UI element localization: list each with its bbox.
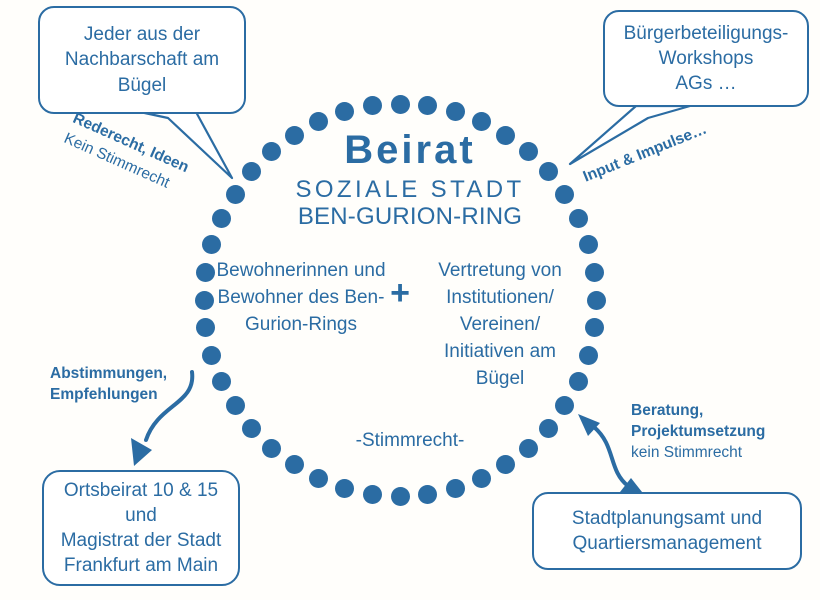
box-stadtplanung[interactable]: Stadtplanungsamt und Quartiersmanagement: [532, 492, 802, 570]
caption-beratung: Beratung, Projektumsetzung kein Stimmrec…: [631, 401, 765, 464]
group-institutions-line-4: Vereinen/: [460, 314, 540, 335]
subtitle-ben-gurion-ring: BEN-GURION-RING: [0, 203, 820, 231]
box-ortsbeirat[interactable]: Ortsbeirat 10 & 15 und Magistrat der Sta…: [42, 470, 240, 586]
bubble-workshops-line-1: Bürgerbeteiligungs-: [624, 21, 789, 46]
diagram-canvas: Jeder aus der Nachbarschaft am Bügel Bür…: [0, 0, 820, 600]
bubble-neighbourhood-line-1: Jeder aus der: [84, 22, 200, 47]
caption-abstimmungen-line-1: Abstimmungen,: [50, 364, 167, 385]
bubble-neighbourhood[interactable]: Jeder aus der Nachbarschaft am Bügel: [38, 6, 246, 114]
group-institutions-line-1: Vertretung: [438, 260, 526, 281]
group-institutions-line-3: Institutionen/: [446, 287, 554, 308]
group-residents-line-3: des: [308, 287, 339, 308]
group-residents: Bewohnerinnen und Bewohner des Ben-Gurio…: [212, 258, 390, 339]
box-stadtplanung-line-2: Quartiersmanagement: [572, 531, 761, 556]
group-institutions-line-2: von: [531, 260, 562, 281]
box-stadtplanung-line-1: Stadtplanungsamt und: [572, 506, 762, 531]
group-institutions: Vertretung von Institutionen/ Vereinen/ …: [420, 258, 580, 393]
caption-beratung-line-2: Projektumsetzung: [631, 422, 765, 443]
bubble-workshops-line-2: Workshops: [659, 46, 754, 71]
caption-beratung-line-1: Beratung,: [631, 401, 765, 422]
group-institutions-line-5: Initiativen: [444, 341, 524, 362]
bubble-neighbourhood-line-2: Nachbarschaft am: [65, 47, 219, 72]
box-ortsbeirat-line-1: Ortsbeirat 10 & 15: [64, 478, 218, 503]
subtitle-soziale-stadt: SOZIALE STADT: [0, 176, 820, 204]
bubble-workshops[interactable]: Bürgerbeteiligungs- Workshops AGs …: [603, 10, 809, 107]
caption-beratung-line-3: kein Stimmrecht: [631, 443, 765, 464]
caption-abstimmungen-line-2: Empfehlungen: [50, 385, 167, 406]
plus-icon: +: [384, 276, 416, 310]
box-ortsbeirat-line-2: und: [125, 503, 157, 528]
bubble-workshops-line-3: AGs …: [675, 71, 736, 96]
caption-abstimmungen: Abstimmungen, Empfehlungen: [50, 364, 167, 406]
bubble-neighbourhood-line-3: Bügel: [118, 73, 167, 98]
group-residents-line-1: Bewohnerinnen: [216, 260, 348, 281]
box-ortsbeirat-line-4: Frankfurt am Main: [64, 553, 218, 578]
box-ortsbeirat-line-3: Magistrat der Stadt: [61, 528, 222, 553]
